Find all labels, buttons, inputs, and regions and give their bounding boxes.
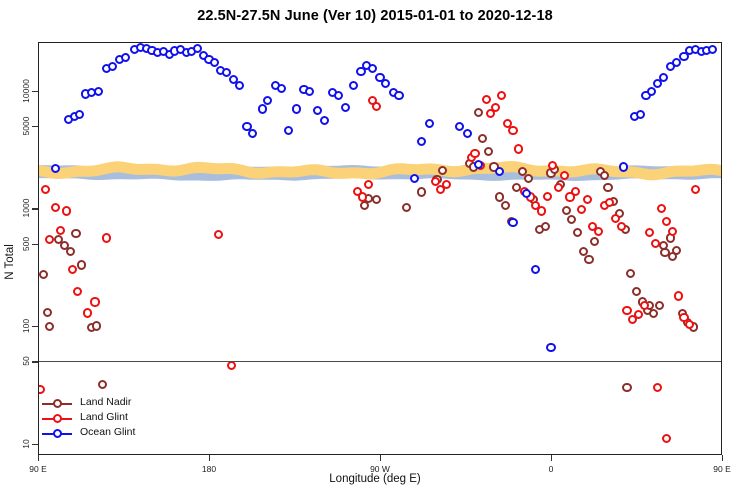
- legend-item-land-nadir[interactable]: Land Nadir: [42, 396, 192, 411]
- y-tick-50: [32, 361, 38, 362]
- x-tick-3: [551, 455, 552, 461]
- y-tick-label-500: 500: [21, 237, 31, 251]
- y-tick-5000: [32, 126, 38, 127]
- y-tick-label-5000: 5000: [21, 117, 31, 136]
- legend-item-ocean-glint[interactable]: Ocean Glint: [42, 426, 192, 441]
- y-tick-label-100: 100: [21, 319, 31, 333]
- x-tick-2: [380, 455, 381, 461]
- legend-label: Land Nadir: [80, 396, 131, 408]
- legend-label: Ocean Glint: [80, 426, 135, 438]
- x-tick-0: [38, 455, 39, 461]
- y-tick-10: [32, 444, 38, 445]
- y-tick-100: [32, 326, 38, 327]
- chart-legend: Land NadirLand GlintOcean Glint: [42, 396, 192, 441]
- y-tick-label-50: 50: [21, 357, 31, 366]
- y-tick-label-10: 10: [21, 439, 31, 448]
- legend-label: Land Glint: [80, 411, 128, 423]
- x-tick-1: [209, 455, 210, 461]
- legend-item-land-glint[interactable]: Land Glint: [42, 411, 192, 426]
- x-tick-4: [722, 455, 723, 461]
- x-axis-title: Longitude (deg E): [0, 473, 750, 485]
- y-tick-1000: [32, 208, 38, 209]
- legend-marker-icon: [53, 399, 62, 408]
- y-tick-10000: [32, 91, 38, 92]
- chart-title: 22.5N-27.5N June (Ver 10) 2015-01-01 to …: [0, 8, 750, 24]
- legend-marker-icon: [53, 414, 62, 423]
- y-axis-title: N Total: [2, 0, 18, 500]
- chart-canvas: 22.5N-27.5N June (Ver 10) 2015-01-01 to …: [0, 0, 750, 500]
- legend-marker-icon: [53, 429, 62, 438]
- y-tick-label-10000: 10000: [21, 79, 31, 103]
- y-tick-label-1000: 1000: [21, 199, 31, 218]
- plot-frame: [38, 42, 722, 455]
- y-axis-title-text: N Total: [4, 244, 16, 280]
- y-tick-500: [32, 244, 38, 245]
